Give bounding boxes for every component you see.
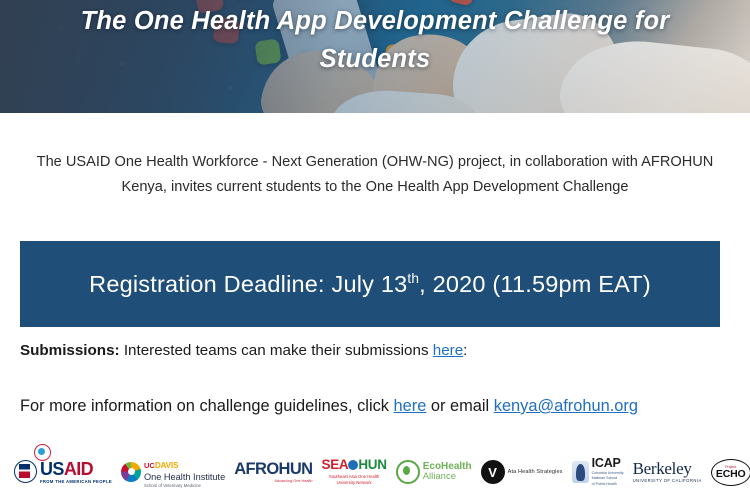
logo-ata-health-strategies: V Ata Health Strategies — [481, 460, 563, 484]
afrohun-wordmark: AFROHUN — [234, 461, 312, 478]
uc-davis-pinwheel-icon — [121, 462, 141, 482]
submissions-label: Submissions: — [20, 342, 120, 359]
logo-usaid: USAID FROM THE AMERICAN PEOPLE — [14, 460, 112, 484]
guidelines-here-link[interactable]: here — [394, 397, 427, 415]
uc-davis-davis: DAVIS — [155, 461, 178, 470]
more-info-text-middle: or email — [426, 397, 493, 415]
usaid-wordmark: USAID — [40, 460, 112, 479]
icap-wordmark: ICAP — [592, 457, 624, 470]
registration-deadline-banner: Registration Deadline: July 13th, 2020 (… — [20, 241, 720, 327]
logo-seaohun: SEAHUN Southeast Asia One Health Univers… — [322, 458, 387, 485]
hero-title: The One Health App Development Challenge… — [0, 2, 750, 78]
icap-figure-icon — [572, 461, 589, 483]
logo-project-echo: Project ECHO — [711, 459, 750, 486]
uc-davis-wordmark: UCDAVIS — [144, 456, 225, 473]
links-section: Submissions: Interested teams can make t… — [20, 340, 730, 418]
project-echo-wordmark: ECHO — [716, 468, 746, 480]
icap-sub-1: Columbia University — [592, 471, 624, 475]
afrohun-ring-icon — [34, 444, 51, 461]
logo-ecohealth-alliance: EcoHealth Alliance — [396, 460, 472, 484]
icap-sub-3: of Public Health — [592, 482, 617, 486]
uc-davis-institute: One Health Institute — [144, 473, 225, 483]
submissions-line: Submissions: Interested teams can make t… — [20, 340, 730, 362]
uc-davis-uc: UC — [144, 461, 155, 470]
logo-icap: ICAP Columbia University Mailman School … — [572, 457, 624, 487]
seaohun-word-a: SEA — [322, 457, 349, 472]
logo-berkeley: Berkeley UNIVERSITY OF CALIFORNIA — [633, 460, 702, 483]
usaid-word-a: US — [40, 459, 64, 479]
seaohun-word-b: HUN — [358, 457, 386, 472]
usaid-tagline: FROM THE AMERICAN PEOPLE — [40, 480, 112, 484]
ecohealth-leaf-icon — [396, 460, 420, 484]
seaohun-wordmark: SEAHUN — [322, 458, 387, 472]
ata-wordmark: Ata Health Strategies — [508, 469, 563, 475]
uc-davis-school: School of Veterinary Medicine — [144, 484, 225, 489]
afrohun-tagline: Advancing One Health — [234, 479, 312, 483]
seaohun-tagline: Southeast Asia One Health University Net… — [322, 474, 387, 485]
contact-email-link[interactable]: kenya@afrohun.org — [494, 397, 638, 415]
submissions-text-after: : — [463, 342, 467, 359]
seaohun-tagline-1: Southeast Asia One Health — [329, 474, 379, 479]
usaid-word-b: AID — [64, 459, 93, 479]
more-info-text-before: For more information on challenge guidel… — [20, 397, 394, 415]
project-echo-ring-icon: Project ECHO — [711, 459, 750, 486]
hero-banner: The One Health App Development Challenge… — [0, 0, 750, 113]
usaid-seal-icon — [14, 460, 37, 483]
logo-afrohun: AFROHUN Advancing One Health — [234, 461, 312, 483]
deadline-suffix: , 2020 (11.59pm EAT) — [419, 271, 651, 297]
deadline-text: Registration Deadline: July 13th, 2020 (… — [89, 271, 651, 298]
partner-logo-strip: USAID FROM THE AMERICAN PEOPLE UCDAVIS O… — [0, 443, 750, 501]
logo-uc-davis: UCDAVIS One Health Institute School of V… — [121, 456, 225, 489]
deadline-ordinal: th — [407, 271, 419, 286]
icap-sub-2: Mailman School — [592, 476, 618, 480]
ecohealth-line-2: Alliance — [423, 472, 472, 482]
berkeley-wordmark: Berkeley — [633, 460, 702, 478]
seaohun-globe-icon — [348, 460, 358, 470]
deadline-prefix: Registration Deadline: July 13 — [89, 271, 407, 297]
berkeley-subtitle: UNIVERSITY OF CALIFORNIA — [633, 479, 702, 483]
more-info-line: For more information on challenge guidel… — [20, 394, 730, 418]
seaohun-tagline-2: University Network — [337, 480, 372, 485]
intro-paragraph: The USAID One Health Workforce - Next Ge… — [34, 150, 716, 200]
submissions-here-link[interactable]: here — [433, 342, 463, 359]
icap-subtitle: Columbia University Mailman School of Pu… — [592, 471, 624, 487]
submissions-text-before: Interested teams can make their submissi… — [120, 342, 433, 359]
ata-v-icon: V — [481, 460, 505, 484]
